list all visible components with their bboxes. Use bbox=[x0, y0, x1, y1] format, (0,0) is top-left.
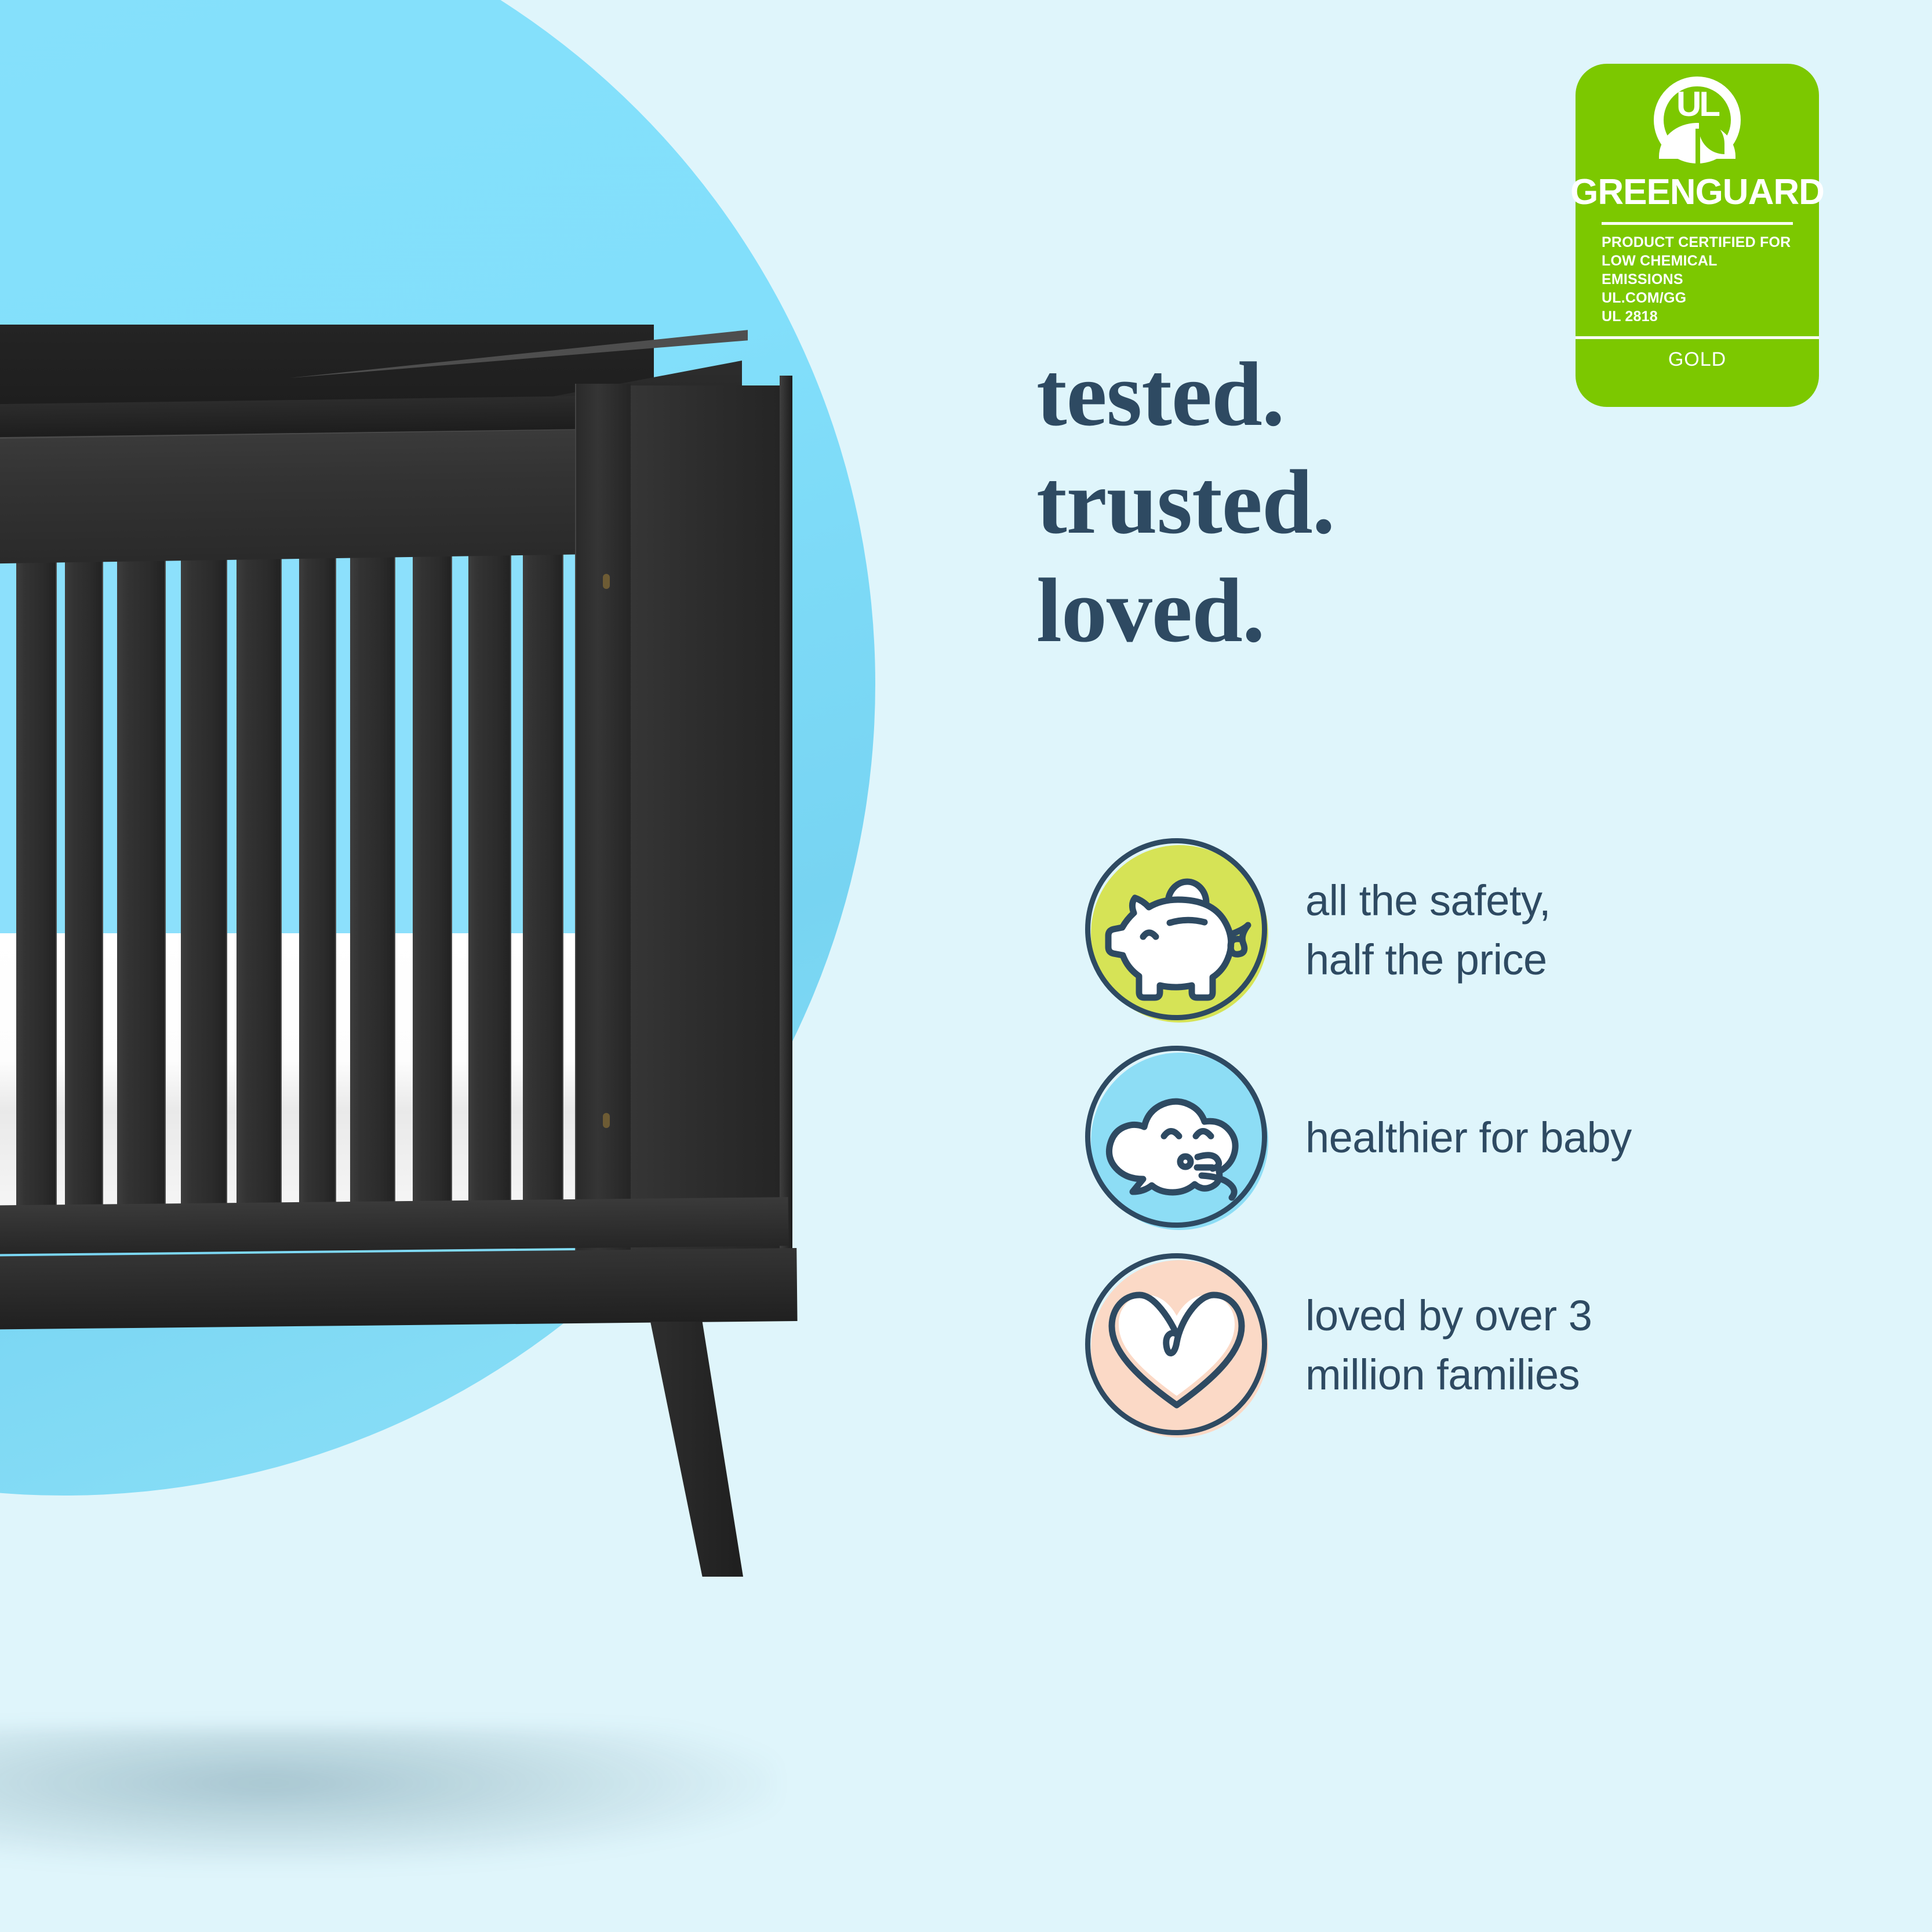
crib-slat-gap-mattress bbox=[0, 933, 16, 1211]
crib-slat bbox=[299, 539, 336, 1211]
badge-title: GREENGUARD bbox=[1570, 172, 1824, 213]
crib-end-panel bbox=[626, 385, 788, 1267]
badge-certification-details: PRODUCT CERTIFIED FOR LOW CHEMICAL EMISS… bbox=[1602, 233, 1793, 326]
crib-tapered-leg bbox=[650, 1322, 743, 1577]
crib-hardware-screw-bottom bbox=[603, 1113, 610, 1128]
feature-list: all the safety, half the price bbox=[1078, 835, 1890, 1457]
headline-line-tested: tested. bbox=[1036, 341, 1334, 449]
crib-bottom-rail-upper bbox=[0, 1197, 788, 1254]
crib-slat-gap bbox=[0, 539, 16, 933]
crib-slat bbox=[523, 539, 563, 1211]
crib-slat-gap bbox=[452, 539, 468, 933]
crib-slat-gap bbox=[282, 539, 299, 933]
feature-item-price: all the safety, half the price bbox=[1078, 835, 1890, 1026]
crib-end-panel-edge bbox=[780, 376, 792, 1268]
crib-slat-gap-mattress bbox=[395, 933, 413, 1211]
ul-letters: UL bbox=[1654, 87, 1741, 122]
crib-bottom-rail-lower bbox=[0, 1248, 798, 1330]
badge-footer-rule bbox=[1576, 336, 1819, 339]
smiling-cloud-icon bbox=[1078, 1042, 1275, 1234]
crib-slat-gap bbox=[395, 539, 413, 933]
crib-slat-gap bbox=[227, 539, 237, 933]
marketing-banner: UL GREENGUARD PRODUCT CERTIFIED FOR LOW … bbox=[0, 0, 1932, 1932]
ul-greenguard-leaf-icon: UL bbox=[1654, 77, 1741, 163]
crib-slat bbox=[468, 539, 511, 1211]
crib-product-image bbox=[0, 400, 846, 1536]
crib-floor-shadow bbox=[0, 1727, 777, 1866]
feature-label-loved: loved by over 3 million families bbox=[1305, 1286, 1592, 1405]
crib-slat bbox=[65, 539, 103, 1211]
crib-slat-gap bbox=[511, 539, 523, 933]
piggy-bank-icon bbox=[1078, 835, 1275, 1026]
crib-corner-post bbox=[575, 384, 631, 1265]
crib-slat-gap-mattress bbox=[336, 933, 350, 1211]
crib-slats bbox=[0, 539, 661, 1211]
piggy-bank-glyph bbox=[1078, 835, 1275, 1026]
crib-slat-gap-mattress bbox=[166, 933, 181, 1211]
crib-hardware-screw-top bbox=[603, 574, 610, 589]
headline-line-loved: loved. bbox=[1036, 557, 1334, 665]
badge-divider bbox=[1602, 222, 1793, 225]
crib-slat bbox=[237, 539, 282, 1211]
crib-slat-gap-mattress bbox=[452, 933, 468, 1211]
badge-detail-line-2: LOW CHEMICAL EMISSIONS bbox=[1602, 252, 1793, 289]
crib-slat-gap-mattress bbox=[282, 933, 299, 1211]
crib-slat-gap bbox=[166, 539, 181, 933]
crib-slat-gap bbox=[103, 539, 117, 933]
crib-slat-gap-mattress bbox=[57, 933, 65, 1211]
badge-detail-line-4: UL 2818 bbox=[1602, 307, 1793, 326]
smiling-cloud-glyph bbox=[1078, 1042, 1275, 1234]
crib-slat-gap bbox=[57, 539, 65, 933]
crib-slat-gap-mattress bbox=[227, 933, 237, 1211]
feature-label-health: healthier for baby bbox=[1305, 1108, 1632, 1167]
headline: tested. trusted. loved. bbox=[1036, 341, 1334, 665]
crib-slat bbox=[181, 539, 227, 1211]
badge-detail-line-3: UL.COM/GG bbox=[1602, 289, 1793, 307]
crib-slat-gap-mattress bbox=[511, 933, 523, 1211]
headline-line-trusted: trusted. bbox=[1036, 449, 1334, 556]
crib-slat-gap bbox=[336, 539, 350, 933]
badge-detail-line-1: PRODUCT CERTIFIED FOR bbox=[1602, 233, 1793, 252]
heart-icon bbox=[1078, 1250, 1275, 1441]
heart-glyph bbox=[1078, 1250, 1275, 1441]
crib-slat bbox=[117, 539, 166, 1211]
crib-slat bbox=[350, 539, 395, 1211]
feature-item-health: healthier for baby bbox=[1078, 1042, 1890, 1234]
crib-slat-gap-mattress bbox=[103, 933, 117, 1211]
crib-slat-gap bbox=[563, 539, 575, 933]
feature-label-price: all the safety, half the price bbox=[1305, 871, 1551, 989]
crib-slat-gap-mattress bbox=[563, 933, 575, 1211]
greenguard-certification-badge: UL GREENGUARD PRODUCT CERTIFIED FOR LOW … bbox=[1576, 64, 1819, 407]
crib-slat bbox=[413, 539, 452, 1211]
badge-level-label: GOLD bbox=[1668, 348, 1726, 371]
feature-item-loved: loved by over 3 million families bbox=[1078, 1250, 1890, 1441]
crib-slat bbox=[16, 539, 57, 1211]
